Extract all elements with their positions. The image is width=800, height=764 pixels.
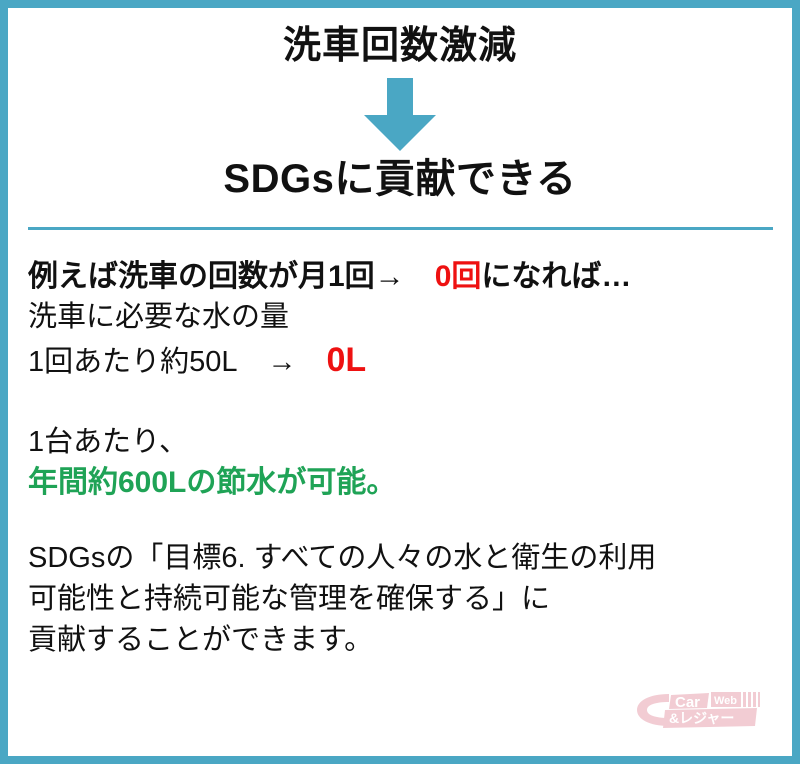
arrow-container: [8, 78, 792, 153]
closing-paragraph-line-2: 可能性と持続可能な管理を確保する」に: [28, 579, 776, 620]
annual-savings-text: 年間約600Lの節水が可能。: [28, 462, 776, 503]
per-wash-arrow: →: [268, 346, 297, 378]
logo-leisure-text: &レジャー: [669, 710, 734, 726]
closing-paragraph-line-1: SDGsの「目標6. すべての人々の水と衛生の利用: [28, 538, 776, 579]
per-car-label: 1台あたり、: [28, 422, 776, 462]
headline-top: 洗車回数激減: [8, 26, 792, 68]
per-wash-amount: 1回あたり約50L: [28, 346, 238, 378]
infographic-card: 洗車回数激減 SDGsに貢献できる 例えば洗車の回数が月1回→0回になれば… 洗…: [0, 0, 800, 764]
per-wash-line: 1回あたり約50L→0L: [28, 337, 776, 384]
header-block: 洗車回数激減 SDGsに貢献できる: [8, 8, 792, 201]
body-copy: 例えば洗車の回数が月1回→0回になれば… 洗車に必要な水の量 1回あたり約50L…: [8, 230, 792, 661]
logo-web-text: Web: [714, 695, 737, 707]
down-arrow-icon: [360, 78, 440, 153]
logo-car-text: Car: [675, 694, 700, 711]
example-line-suffix: になれば…: [481, 260, 631, 293]
example-line: 例えば洗車の回数が月1回→0回になれば…: [28, 256, 776, 297]
example-line-highlight: 0回: [435, 260, 482, 293]
closing-paragraph-line-3: 貢献することができます。: [28, 620, 776, 661]
car-web-leisure-logo-icon: Car Web &レジャー: [635, 688, 770, 734]
headline-bottom: SDGsに貢献できる: [8, 157, 792, 201]
example-line-prefix: 例えば洗車の回数が月1回→: [28, 260, 405, 293]
watermark-logo: Car Web &レジャー: [635, 688, 770, 734]
per-wash-result: 0L: [327, 341, 367, 379]
water-needed-label: 洗車に必要な水の量: [28, 297, 776, 337]
